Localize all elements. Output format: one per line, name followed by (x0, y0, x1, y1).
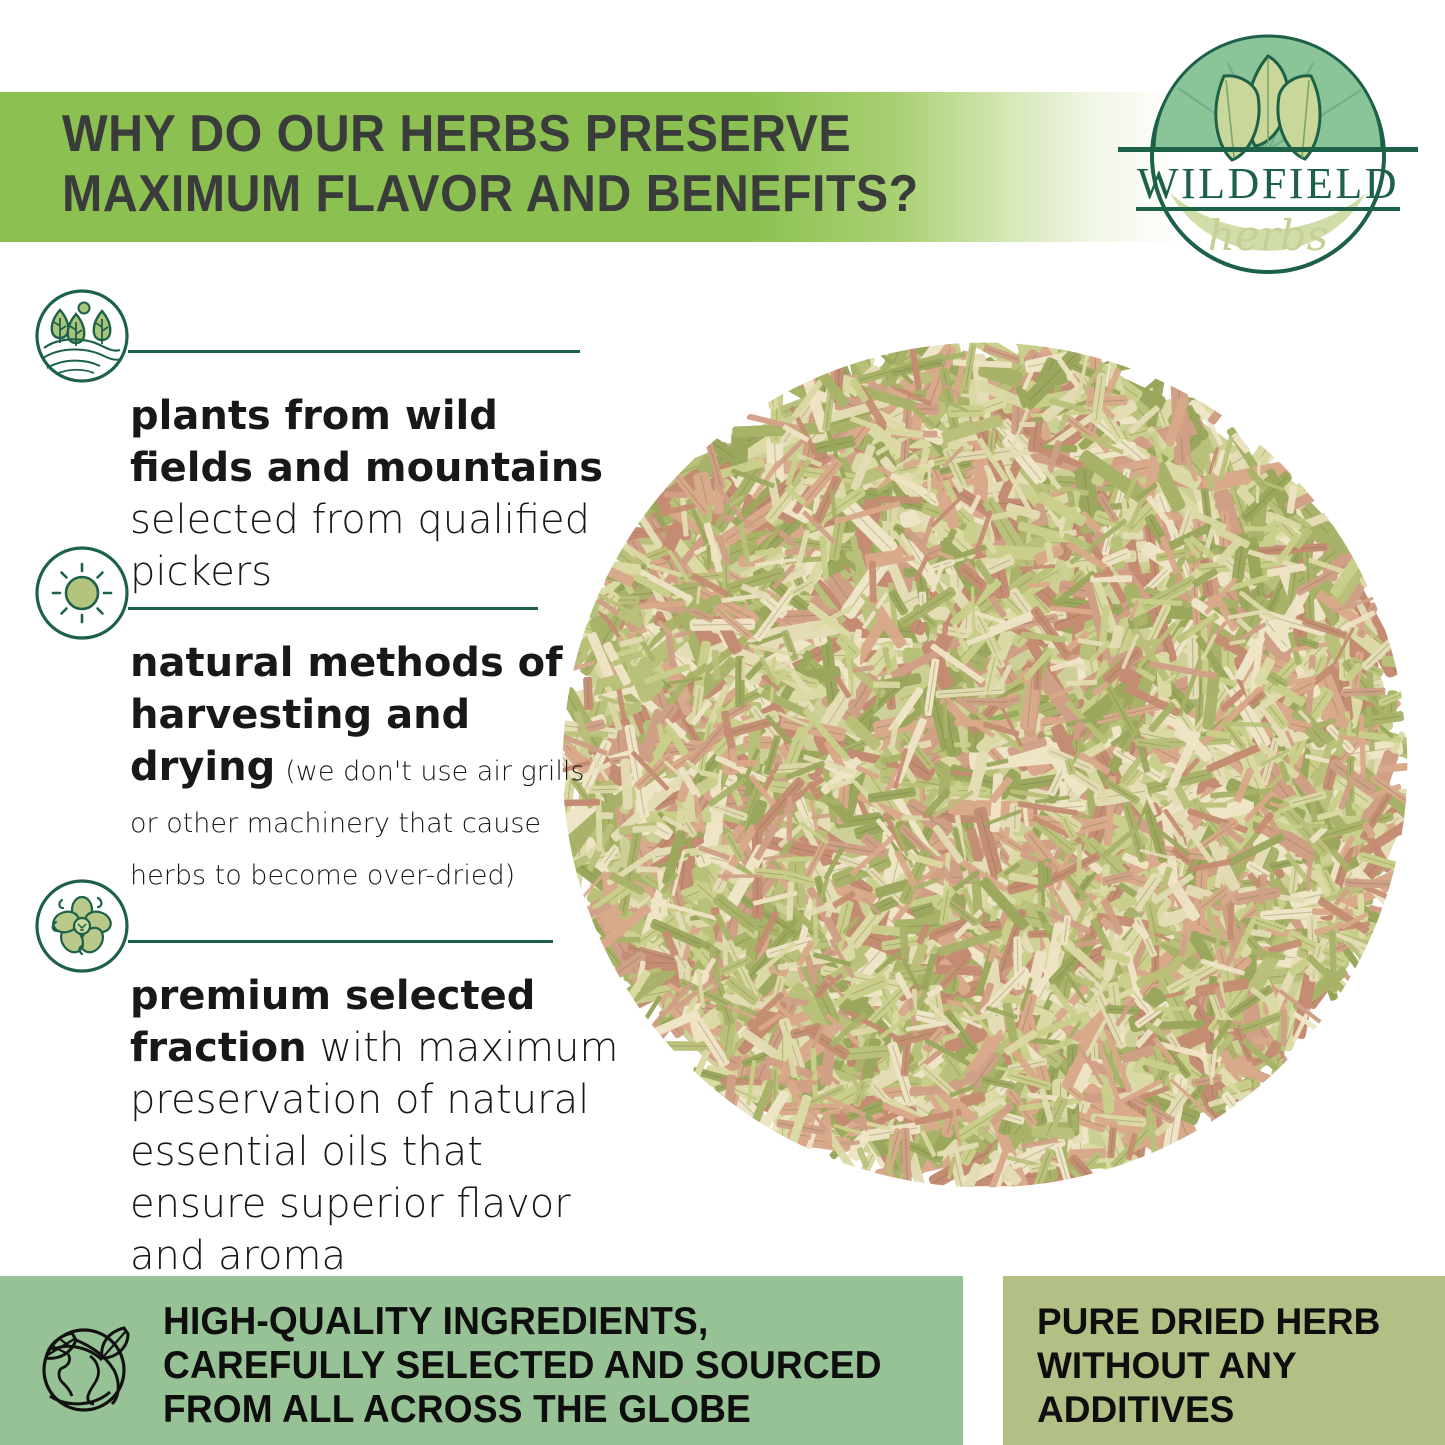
field-trees-icon (34, 288, 130, 384)
feature-text-3: premium selected fraction with maximum p… (130, 970, 630, 1282)
banner-text-2: PURE DRIED HERB WITHOUT ANY ADDITIVES (1037, 1300, 1437, 1432)
logo-sub-text: herbs (1208, 211, 1328, 260)
globe-leaf-icon (28, 1298, 152, 1422)
product-image-lemongrass-pile (545, 325, 1425, 1205)
feature-text-1: plants from wild fields and mountains se… (130, 390, 620, 598)
banner-high-quality: HIGH-QUALITY INGREDIENTS, CAREFULLY SELE… (0, 1276, 963, 1445)
flower-drops-icon (34, 878, 130, 974)
logo-brand-text: WILDFIELD (1137, 159, 1399, 208)
feature-text-2: natural methods of harvesting and drying… (130, 637, 600, 897)
banner-text-1: HIGH-QUALITY INGREDIENTS, CAREFULLY SELE… (163, 1300, 914, 1432)
feature-rule-2 (128, 607, 538, 610)
feature-regular-1: selected from qualified pickers (130, 497, 590, 595)
brand-logo: WILDFIELD herbs (1118, 28, 1418, 283)
feature-rule-3 (128, 940, 553, 943)
page-title: WHY DO OUR HERBS PRESERVE MAXIMUM FLAVOR… (62, 104, 973, 224)
feature-bold-1: plants from wild fields and mountains (130, 393, 603, 491)
sun-icon (34, 545, 130, 641)
banner-pure-dried: PURE DRIED HERB WITHOUT ANY ADDITIVES (1003, 1276, 1445, 1445)
feature-rule-1 (128, 350, 580, 353)
